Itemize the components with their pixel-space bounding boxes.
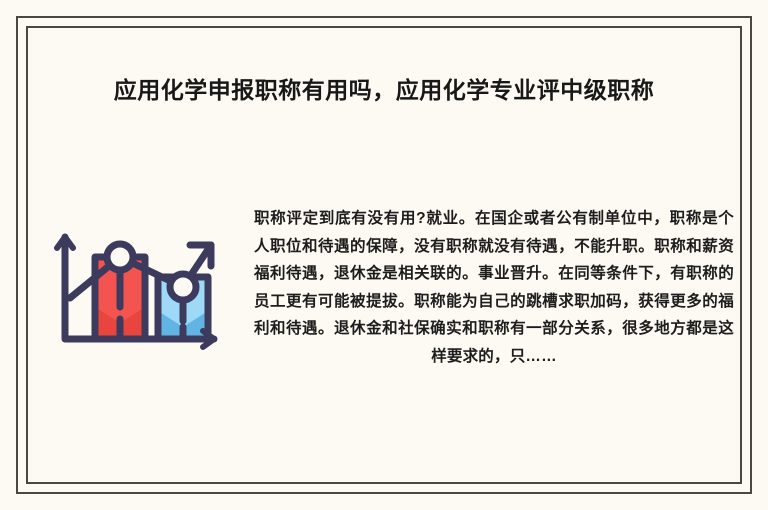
page-root: 应用化学申报职称有用吗，应用化学专业评中级职称: [0, 0, 768, 510]
content-area: 职称评定到底有没有用?就业。在国企或者公有制单位中，职称是个人职位和待遇的保障，…: [26, 190, 742, 430]
article-excerpt: 职称评定到底有没有用?就业。在国企或者公有制单位中，职称是个人职位和待遇的保障，…: [254, 205, 734, 370]
data-point-marker-2: [170, 274, 196, 300]
growth-bar-chart-illustration: [48, 215, 223, 360]
data-point-marker-1: [107, 244, 133, 270]
page-title: 应用化学申报职称有用吗，应用化学专业评中级职称: [26, 76, 742, 106]
